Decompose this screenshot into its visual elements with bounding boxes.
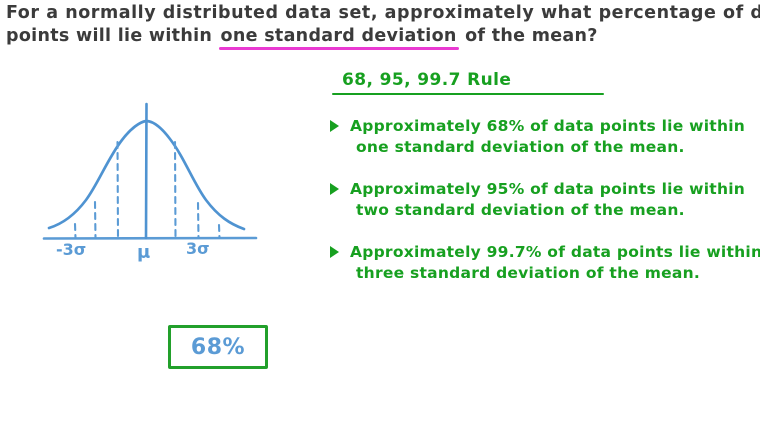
bullet-1-line-1: Approximately 68% of data points lie wit… — [350, 116, 754, 137]
notes-heading: 68, 95, 99.7 Rule — [330, 70, 754, 90]
axis-label-mu: μ — [137, 242, 150, 263]
question-line-2-suffix: of the mean? — [459, 26, 598, 46]
question-text: For a normally distributed data set, app… — [6, 2, 754, 48]
question-line-2: points will lie within one standard devi… — [6, 25, 754, 48]
question-line-1: For a normally distributed data set, app… — [6, 2, 754, 25]
highlighted-phrase: one standard deviation — [219, 26, 459, 46]
worksheet-canvas: For a normally distributed data set, app… — [0, 0, 760, 427]
bullet-2-line-2: two standard deviation of the mean. — [350, 200, 754, 221]
dashed-line-minus-2-sigma — [95, 202, 96, 238]
bullet-3-line-2: three standard deviation of the mean. — [350, 263, 754, 284]
list-item: Approximately 68% of data points lie wit… — [330, 116, 754, 157]
bullet-1-line-2: one standard deviation of the mean. — [350, 137, 754, 158]
triangle-bullet-icon — [330, 120, 339, 132]
bell-curve-figure: -3σ μ 3σ — [18, 96, 286, 286]
dashed-line-minus-3-sigma — [75, 224, 76, 238]
solution-notes: 68, 95, 99.7 Rule Approximately 68% of d… — [330, 70, 754, 305]
dashed-line-plus-2-sigma — [198, 203, 199, 238]
dashed-line-minus-1-sigma — [118, 142, 119, 238]
answer-value: 68% — [191, 335, 245, 360]
mean-vertical-line — [146, 104, 147, 238]
dashed-line-plus-1-sigma — [175, 142, 176, 238]
question-line-2-prefix: points will lie within — [6, 26, 219, 46]
list-item: Approximately 95% of data points lie wit… — [330, 179, 754, 220]
bullet-2-line-1: Approximately 95% of data points lie wit… — [350, 179, 754, 200]
triangle-bullet-icon — [330, 246, 339, 258]
notes-bullet-list: Approximately 68% of data points lie wit… — [330, 116, 754, 283]
answer-box: 68% — [168, 325, 268, 369]
triangle-bullet-icon — [330, 183, 339, 195]
list-item: Approximately 99.7% of data points lie w… — [330, 242, 754, 283]
dashed-line-plus-3-sigma — [219, 225, 220, 238]
bullet-3-line-1: Approximately 99.7% of data points lie w… — [350, 242, 754, 263]
axis-label-plus-3-sigma: 3σ — [186, 239, 210, 258]
axis-label-minus-3-sigma: -3σ — [56, 240, 86, 259]
